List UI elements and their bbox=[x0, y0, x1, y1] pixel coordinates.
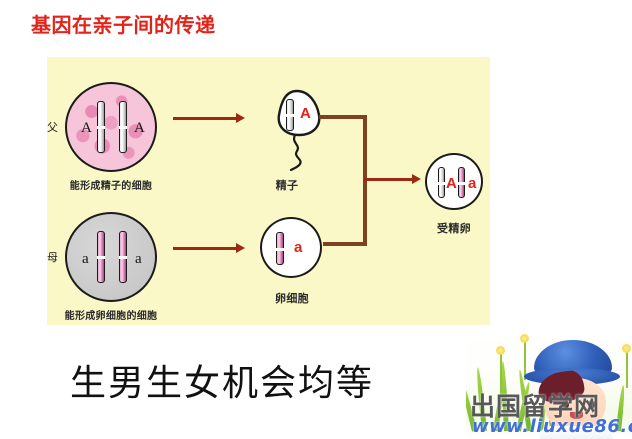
sperm-shape-svg bbox=[255, 85, 341, 171]
allele-mother-right: a bbox=[135, 252, 142, 267]
mother-label: 母 bbox=[47, 249, 58, 265]
allele-egg: a bbox=[294, 240, 302, 255]
chromosome-mother-2 bbox=[119, 231, 127, 283]
chromosome-mother-1 bbox=[97, 231, 105, 283]
allele-father-right: A bbox=[134, 121, 145, 136]
bottom-heading: 生男生女机会均等 bbox=[70, 354, 374, 406]
allele-zygote-a: a bbox=[468, 176, 476, 191]
chromosome-father-1 bbox=[97, 101, 105, 153]
allele-mother-left: a bbox=[82, 252, 89, 267]
arrow-mother-to-egg-head bbox=[236, 243, 245, 253]
chromosome-father-2 bbox=[119, 101, 127, 153]
dandelion-stem-icon bbox=[626, 350, 628, 388]
chromosome-zygote-paternal bbox=[438, 167, 445, 198]
arrow-father-to-sperm-head bbox=[236, 113, 245, 123]
arrow-mother-to-egg-line bbox=[173, 247, 237, 250]
mother-germ-cell: a a bbox=[65, 212, 157, 302]
dandelion-icon bbox=[520, 334, 529, 343]
dandelion-icon bbox=[496, 346, 505, 355]
page-title: 基因在亲子间的传递 bbox=[31, 9, 216, 38]
bracket-top-segment bbox=[319, 115, 367, 119]
egg-caption: 卵细胞 bbox=[252, 290, 332, 306]
watermark-site-url[interactable]: www.liuxue86.com bbox=[472, 416, 632, 437]
arrow-to-zygote-line bbox=[364, 178, 414, 181]
zygote-cell: A a bbox=[425, 153, 483, 210]
father-label: 父 bbox=[47, 119, 58, 135]
sperm-caption: 精子 bbox=[252, 177, 322, 193]
chromosome-sperm bbox=[286, 99, 294, 131]
zygote-caption: 受精卵 bbox=[416, 220, 492, 236]
allele-zygote-A: A bbox=[446, 176, 457, 191]
father-germ-cell: A A bbox=[65, 82, 157, 172]
watermark: 出国留学网 www.liuxue86.com bbox=[466, 332, 632, 439]
egg-cell: a bbox=[260, 217, 322, 278]
chromosome-egg bbox=[276, 232, 284, 265]
allele-father-left: A bbox=[81, 121, 92, 136]
chromosome-zygote-maternal bbox=[458, 167, 465, 198]
arrow-father-to-sperm-line bbox=[173, 117, 237, 120]
mother-cell-caption: 能形成卵细胞的细胞 bbox=[52, 307, 170, 322]
sperm-cell: A bbox=[255, 85, 341, 171]
slide-canvas: 基因在亲子间的传递 父 A A 能形成精子的细胞 母 a a 能形成卵细胞的细胞 bbox=[0, 0, 632, 439]
bracket-bottom-segment bbox=[323, 242, 367, 246]
genetics-diagram-panel: 父 A A 能形成精子的细胞 母 a a 能形成卵细胞的细胞 bbox=[47, 57, 490, 325]
allele-sperm: A bbox=[300, 106, 311, 121]
father-cell-caption: 能形成精子的细胞 bbox=[60, 177, 162, 192]
dandelion-icon bbox=[622, 344, 631, 353]
arrow-to-zygote-head bbox=[412, 174, 421, 184]
